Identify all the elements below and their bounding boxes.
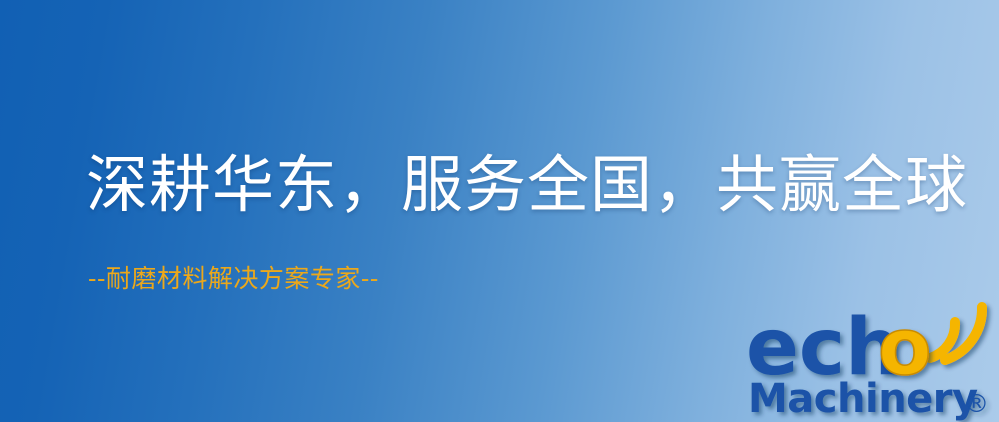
banner-headline: 深耕华东，服务全国，共赢全球	[86, 152, 968, 217]
logo-machinery-text: Machinery	[748, 376, 978, 422]
echo-machinery-logo: ech o Machinery ®	[742, 292, 999, 422]
banner-subtitle: --耐磨材料解决方案专家--	[88, 264, 379, 294]
signal-waves-icon	[930, 307, 982, 360]
registered-trademark-icon: ®	[964, 389, 989, 418]
logo-tagline-group: Machinery ®	[748, 376, 989, 422]
hero-banner: 深耕华东，服务全国，共赢全球 --耐磨材料解决方案专家-- ech o	[0, 0, 999, 422]
